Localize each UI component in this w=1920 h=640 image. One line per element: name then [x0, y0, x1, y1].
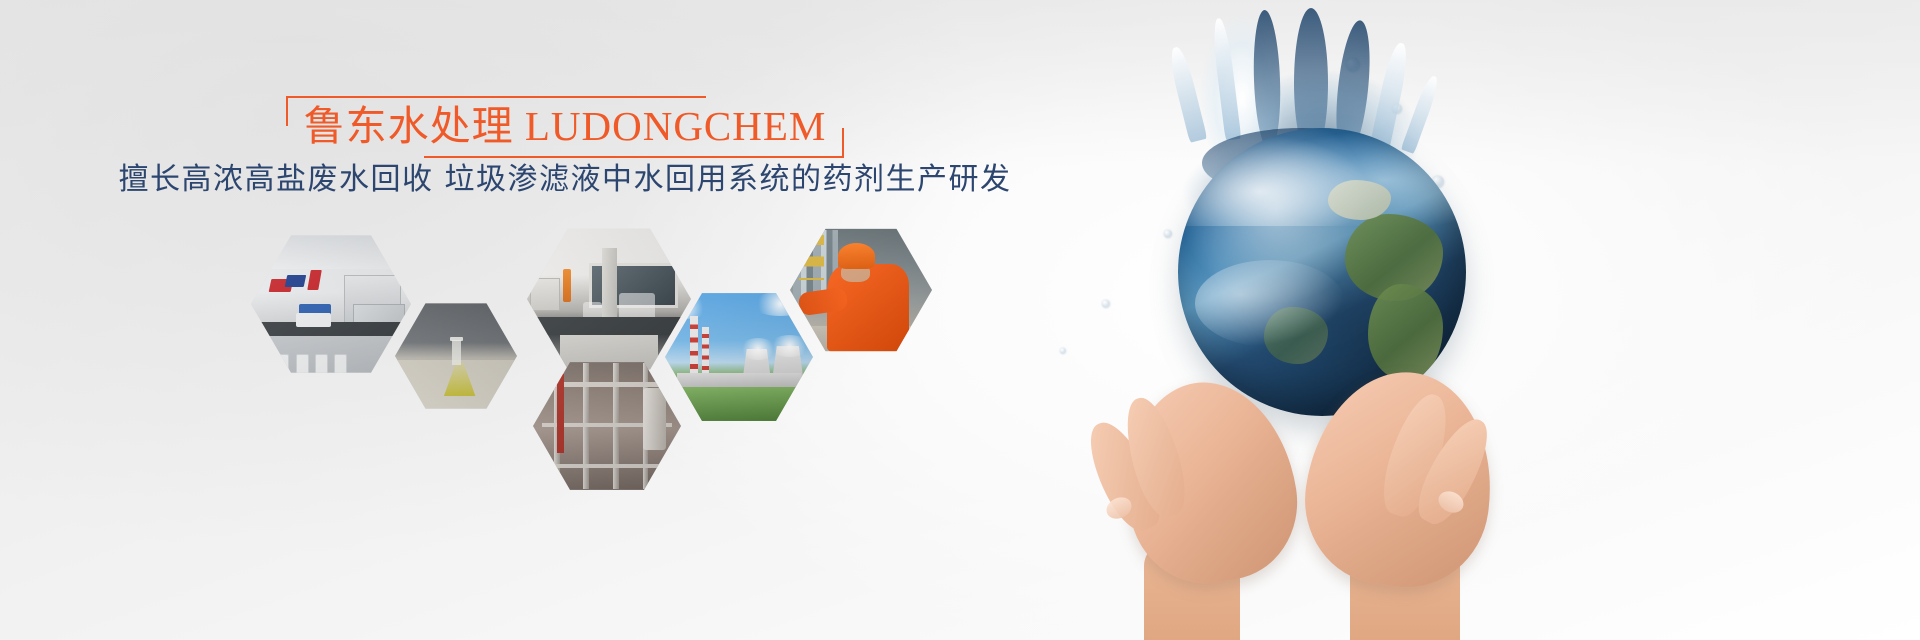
hero-banner: 鲁东水处理 LUDONGCHEM 擅长高浓高盐废水回收 垃圾渗滤液中水回用系统的…	[0, 0, 1920, 640]
photo-shade	[527, 224, 691, 374]
brand-title-wrapper: 鲁东水处理 LUDONGCHEM	[286, 96, 845, 158]
photo-shade	[665, 289, 813, 425]
hex-photo-chem-lab[interactable]	[527, 224, 691, 374]
photo-shade	[395, 300, 517, 412]
hex-photo-pipe-rack[interactable]	[533, 358, 681, 494]
continent	[1368, 284, 1443, 382]
photo-shade	[251, 231, 411, 377]
hex-photo-worker[interactable]	[790, 225, 932, 355]
photo-shade	[790, 225, 932, 355]
photo-shade	[533, 358, 681, 494]
water-droplet	[1102, 300, 1110, 308]
hex-photo-lab-slogan[interactable]	[251, 231, 411, 377]
water-globe-visual	[1040, 0, 1600, 640]
hex-photo-power-plant[interactable]	[665, 289, 813, 425]
hex-photo-flask[interactable]	[395, 300, 517, 412]
globe-water-surface	[1178, 128, 1466, 226]
water-droplet	[1060, 348, 1066, 354]
brand-title: 鲁东水处理 LUDONGCHEM	[304, 100, 827, 152]
ocean-highlight	[1195, 260, 1345, 346]
splash-spike	[1211, 17, 1242, 140]
earth-globe	[1178, 128, 1466, 416]
